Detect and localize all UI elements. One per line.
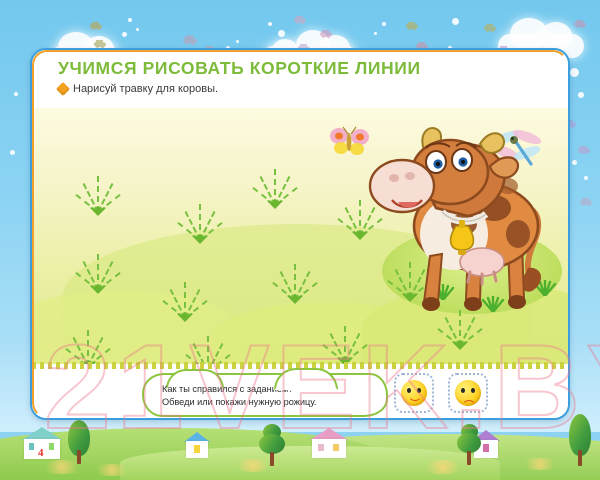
heart-decor <box>580 146 587 153</box>
grass-blade-dashed <box>87 330 89 364</box>
grass-tuft-base <box>90 285 106 294</box>
sparkle-dot <box>570 68 579 77</box>
grass-tuft-tracing[interactable] <box>172 198 228 244</box>
grass-tuft-tracing[interactable] <box>70 248 126 294</box>
happy-face-option[interactable] <box>394 373 434 413</box>
happy-face-icon <box>401 380 427 406</box>
tree <box>456 424 482 466</box>
task-instruction-row: Нарисуй травку для коровы. <box>58 83 218 95</box>
sparkle-dot <box>278 30 285 37</box>
tree <box>258 424 286 466</box>
question-line-1: Как ты справился с заданием? <box>162 383 374 396</box>
grass-tuft-tracing[interactable] <box>70 170 126 216</box>
grass-tuft-tracing[interactable] <box>60 324 116 364</box>
page-title: УЧИМСЯ РИСОВАТЬ КОРОТКИЕ ЛИНИИ <box>58 58 421 79</box>
heart-decor <box>296 16 303 23</box>
grass-tuft-base <box>90 207 106 216</box>
heart-decor <box>486 24 493 31</box>
house-blue-roof <box>186 432 208 458</box>
worksheet-page: 4 УЧИМСЯ РИСОВАТЬ КОРОТКИЕ ЛИ <box>0 0 600 480</box>
heart-decor <box>408 22 415 29</box>
sparkle-dot <box>572 160 577 165</box>
tree <box>566 414 594 466</box>
assessment-strip: Как ты справился с заданием? Обведи или … <box>32 369 568 420</box>
sparkle-dot <box>374 32 377 35</box>
tree <box>66 420 92 464</box>
sparkle-dot <box>10 150 15 155</box>
grass-tuft-base <box>267 200 283 209</box>
question-text: Как ты справился с заданием? Обведи или … <box>162 383 374 410</box>
grass-tuft-tracing[interactable] <box>267 258 323 304</box>
page-number: 4 <box>38 447 44 459</box>
sparkle-dot <box>452 18 459 25</box>
sparkle-dot <box>268 22 272 26</box>
grass-tuft-tracing[interactable] <box>317 320 373 364</box>
sad-face-option[interactable] <box>448 373 488 413</box>
grass-tuft-base <box>452 341 468 350</box>
heart-decor <box>96 40 103 47</box>
grass-tuft-base <box>177 313 193 322</box>
cow-illustration <box>358 116 554 326</box>
task-instruction: Нарисуй травку для коровы. <box>73 83 218 95</box>
diamond-bullet-icon <box>56 82 70 96</box>
house-pink-roof <box>312 428 346 458</box>
grass-tuft-tracing[interactable] <box>247 163 303 209</box>
heart-decor <box>582 198 589 205</box>
tracing-field <box>32 108 568 364</box>
heart-decor <box>185 35 193 43</box>
sparkle-dot <box>122 32 127 37</box>
sparkle-dot <box>128 18 132 22</box>
sparkle-dot <box>382 22 386 26</box>
heart-decor <box>576 20 583 27</box>
sad-face-icon <box>455 380 481 406</box>
grass-tuft-tracing[interactable] <box>180 330 236 364</box>
question-bubble: Как ты справился с заданием? Обведи или … <box>142 373 388 417</box>
grass-tuft-tracing[interactable] <box>157 276 213 322</box>
heart-decor <box>92 22 99 29</box>
heart-decor <box>322 30 329 37</box>
grass-tuft-base <box>287 295 303 304</box>
sparkle-dot <box>236 40 239 43</box>
sparkle-dot <box>578 92 584 98</box>
grass-tuft-base <box>192 235 208 244</box>
worksheet-panel: УЧИМСЯ РИСОВАТЬ КОРОТКИЕ ЛИНИИ Нарисуй т… <box>30 48 570 420</box>
sparkle-dot <box>14 92 18 96</box>
sparkle-dot <box>136 28 139 31</box>
sparkle-dot <box>584 176 588 180</box>
question-line-2: Обведи или покажи нужную рожицу. <box>162 396 374 409</box>
grass-blade-dashed <box>207 336 209 364</box>
house-with-page-number: 4 <box>24 427 60 459</box>
worksheet-header: УЧИМСЯ РИСОВАТЬ КОРОТКИЕ ЛИНИИ Нарисуй т… <box>32 50 568 108</box>
